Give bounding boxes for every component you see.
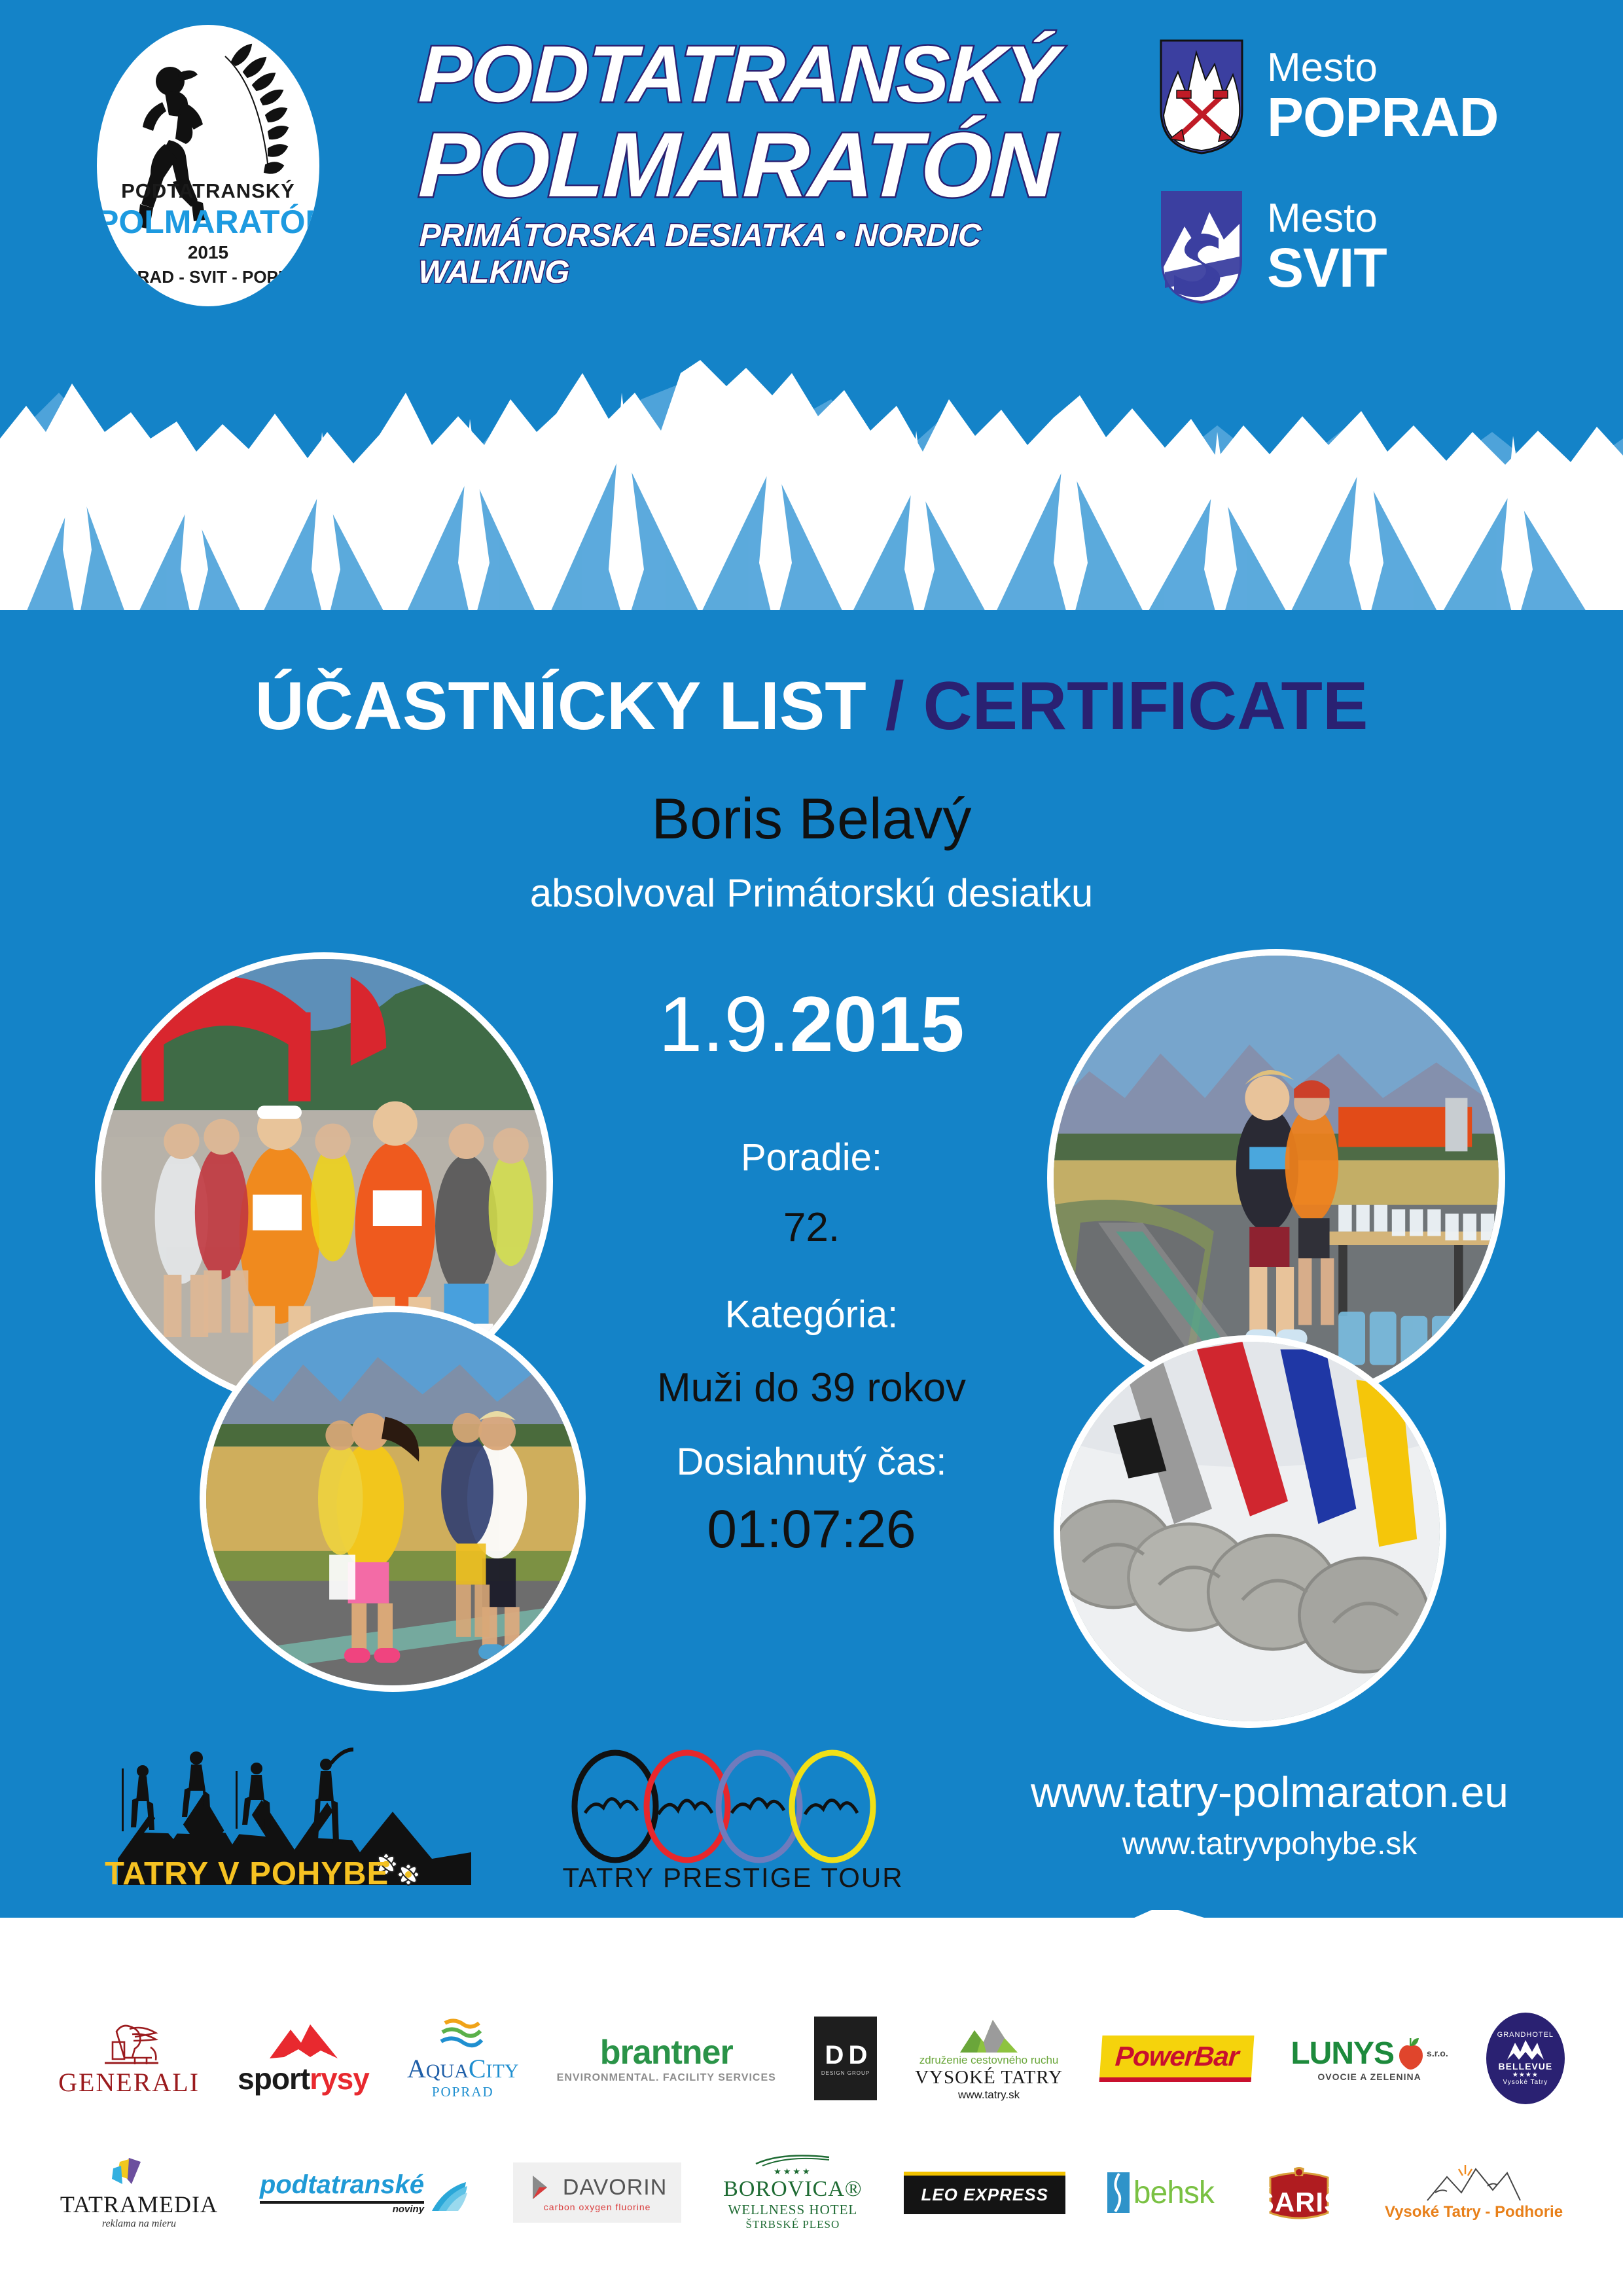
behsk-label: behsk <box>1133 2175 1214 2211</box>
svit-name: SVIT <box>1267 239 1387 296</box>
running-figure-laurel-icon <box>97 25 319 306</box>
sponsor-borovica[interactable]: ★★★★ BOROVICA® WELLNESS HOTEL ŠTRBSKÉ PL… <box>723 2155 862 2231</box>
page-header: PODTATRANSKÝ POLMARATÓN 2015 POPRAD - SV… <box>0 0 1623 367</box>
sponsor-grandhotel-bellevue[interactable]: GRANDHOTEL BELLEVUE ★★★★ Vysoké Tatry <box>1486 2013 1565 2104</box>
podtatranske-pages-icon <box>429 2179 471 2215</box>
seal-line1: PODTATRANSKÝ <box>97 179 319 203</box>
brantner-label: brantner <box>600 2033 733 2072</box>
sponsor-dd-design[interactable]: D D DESIGN GROUP <box>814 2017 877 2100</box>
result-time-label: Dosiahnutý čas: <box>677 1441 947 1483</box>
davorin-label: DAVORIN <box>563 2175 667 2200</box>
borovica-stars: ★★★★ <box>774 2166 812 2177</box>
result-category-label: Kategória: <box>725 1293 898 1336</box>
seal-line2: POLMARATÓN <box>97 203 319 241</box>
sportrysy-label-a: sport <box>238 2062 310 2096</box>
dd-design-label: D D <box>825 2041 866 2070</box>
generali-lion-icon <box>93 2020 165 2067</box>
photo-medals <box>1054 1335 1446 1728</box>
powerbar-label: PowerBar <box>1115 2041 1240 2072</box>
svit-text: Mesto SVIT <box>1267 198 1387 296</box>
svit-prefix: Mesto <box>1267 198 1387 239</box>
sponsor-sportrysy[interactable]: sportrysy <box>238 2020 369 2096</box>
borovica-swoosh-icon <box>753 2155 832 2166</box>
tatramedia-label: TATRAMEDIA <box>60 2191 218 2218</box>
vysoke-tatry-peaks-icon <box>957 2016 1020 2054</box>
borovica-sub1: WELLNESS HOTEL <box>728 2202 858 2218</box>
race-date-year: 2015 <box>790 980 965 1068</box>
powerbar-badge: PowerBar <box>1099 2036 1255 2082</box>
svit-coat-of-arms-icon <box>1158 188 1245 306</box>
sportrysy-mountain-icon <box>264 2020 343 2061</box>
tatry-prestige-tour-rings-icon <box>563 1741 903 1872</box>
aquacity-qua: QUA <box>426 2060 469 2082</box>
grandhotel-bottom: Vysoké Tatry <box>1503 2079 1548 2086</box>
borovica-sub2: ŠTRBSKÉ PLESO <box>745 2218 840 2231</box>
website-secondary[interactable]: www.tatryvpohybe.sk <box>969 1826 1571 1862</box>
aquacity-c: C <box>469 2054 486 2083</box>
lunys-label: LUNYS <box>1291 2036 1394 2072</box>
podtatranske-sub: noviny <box>260 2204 424 2215</box>
poprad-name: POPRAD <box>1267 88 1498 146</box>
certificate-title-sk: ÚČASTNÍCKY LIST <box>255 668 866 744</box>
poprad-coat-of-arms-icon <box>1158 38 1245 156</box>
sponsor-lunys[interactable]: LUNYS s.r.o. OVOCIE A ZELENINA <box>1291 2036 1448 2082</box>
vysoke-tatry-url: www.tatry.sk <box>958 2089 1020 2102</box>
poprad-text: Mesto POPRAD <box>1267 48 1498 146</box>
race-date-daymonth: 1.9. <box>658 980 789 1068</box>
grandhotel-peaks-icon <box>1505 2039 1546 2061</box>
photo-female-runner-art <box>1054 956 1499 1401</box>
dd-design-sub: DESIGN GROUP <box>821 2070 870 2076</box>
behsk-figure-icon <box>1107 2172 1130 2213</box>
sponsor-powerbar[interactable]: PowerBar <box>1101 2036 1253 2082</box>
aquacity-label: AQUACITY <box>407 2053 519 2084</box>
tatramedia-shapes-icon <box>109 2155 168 2191</box>
event-seal-logo: PODTATRANSKÝ POLMARATÓN 2015 POPRAD - SV… <box>97 25 319 306</box>
podtatranske-label: podtatranské <box>260 2170 424 2200</box>
sponsor-vysoke-tatry[interactable]: združenie cestovného ruchu VYSOKÉ TATRY … <box>915 2016 1063 2102</box>
aquacity-sub: POPRAD <box>432 2084 494 2100</box>
dd-design-badge: D D DESIGN GROUP <box>814 2017 877 2100</box>
grandhotel-badge: GRANDHOTEL BELLEVUE ★★★★ Vysoké Tatry <box>1486 2013 1565 2104</box>
participation-statement: absolvoval Primátorskú desiatku <box>0 870 1623 916</box>
sponsor-generali[interactable]: GENERALI <box>58 2020 200 2098</box>
certificate-title-sep: / <box>885 668 904 744</box>
result-category-value: Muži do 39 rokov <box>657 1365 966 1410</box>
leo-express-label: LEO EXPRESS <box>921 2185 1048 2204</box>
event-title-line1: PODTATRANSKÝ <box>418 34 1114 114</box>
sponsor-row-2: TATRAMEDIA reklama na mieru podtatranské… <box>0 2150 1623 2235</box>
aquacity-wave-icon <box>435 2017 491 2053</box>
grandhotel-top: GRANDHOTEL <box>1497 2031 1554 2039</box>
vysoke-tatry-label: VYSOKÉ TATRY <box>915 2067 1063 2089</box>
photo-runners-field <box>200 1306 586 1692</box>
partner-city-svit: Mesto SVIT <box>1158 188 1387 306</box>
tatramedia-sub: reklama na mieru <box>102 2218 176 2230</box>
podhorie-label: Vysoké Tatry - Podhorie <box>1385 2203 1563 2221</box>
davorin-arrow-icon <box>527 2173 556 2202</box>
borovica-label: BOROVICA® <box>723 2177 862 2202</box>
partner-city-poprad: Mesto POPRAD <box>1158 38 1498 156</box>
sponsor-tatramedia[interactable]: TATRAMEDIA reklama na mieru <box>60 2155 218 2230</box>
result-rank-value: 72. <box>783 1205 840 1250</box>
result-rank-label: Poradie: <box>741 1136 882 1179</box>
generali-label: GENERALI <box>58 2067 200 2098</box>
sponsor-davorin[interactable]: DAVORIN carbon oxygen fluorine <box>513 2162 681 2223</box>
sportrysy-label-b: rysy <box>310 2062 369 2096</box>
aquacity-ity: ITY <box>486 2060 519 2082</box>
event-title-line2: POLMARATÓN <box>418 119 1115 211</box>
event-title-block: PODTATRANSKÝ POLMARATÓN PRIMÁTORSKA DESI… <box>419 34 1113 291</box>
podhorie-mountains-icon <box>1425 2164 1523 2203</box>
sponsor-brantner[interactable]: brantner ENVIRONMENTAL. FACILITY SERVICE… <box>557 2033 776 2084</box>
sponsor-row-1: GENERALI sportrysy AQUACITY POPRAD brant… <box>0 2013 1623 2104</box>
davorin-badge: DAVORIN carbon oxygen fluorine <box>513 2162 681 2223</box>
sportrysy-label: sportrysy <box>238 2061 369 2096</box>
event-title-subtitle: PRIMÁTORSKA DESIATKA • NORDIC WALKING <box>418 217 1114 291</box>
saris-label: ŠARIŠ <box>1256 2187 1343 2218</box>
lunys-sro: s.r.o. <box>1427 2048 1448 2058</box>
sponsor-vysoke-tatry-podhorie[interactable]: Vysoké Tatry - Podhorie <box>1385 2164 1563 2221</box>
vysoke-tatry-sub-top: združenie cestovného ruchu <box>919 2054 1059 2067</box>
photo-runners-field-art <box>206 1312 579 1685</box>
poprad-prefix: Mesto <box>1267 48 1498 88</box>
seal-route: POPRAD - SVIT - POPRAD <box>97 267 319 287</box>
lunys-sub: OVOCIE A ZELENINA <box>1317 2072 1421 2082</box>
sponsor-saris[interactable]: ŠARIŠ <box>1256 2167 1343 2218</box>
aquacity-a: A <box>407 2054 426 2083</box>
seal-year: 2015 <box>97 242 319 263</box>
result-time-value: 01:07:26 <box>707 1499 916 1559</box>
certificate-title: ÚČASTNÍCKY LIST / CERTIFICATE <box>0 668 1623 745</box>
davorin-sub: carbon oxygen fluorine <box>544 2202 651 2212</box>
certificate-title-en: CERTIFICATE <box>923 668 1368 744</box>
website-primary[interactable]: www.tatry-polmaraton.eu <box>969 1767 1571 1817</box>
sponsor-podtatranske-noviny[interactable]: podtatranské noviny <box>260 2170 471 2215</box>
mountain-range-banner <box>0 353 1623 628</box>
sponsor-leo-express[interactable]: LEO EXPRESS <box>904 2172 1065 2214</box>
brantner-sub: ENVIRONMENTAL. FACILITY SERVICES <box>557 2072 776 2084</box>
grandhotel-mid: BELLEVUE <box>1499 2061 1553 2072</box>
participant-name: Boris Belavý <box>0 785 1623 852</box>
mountain-divider-bottom <box>0 1878 1623 2009</box>
leo-express-badge: LEO EXPRESS <box>904 2172 1065 2214</box>
photo-medals-art <box>1060 1342 1440 1721</box>
lunys-apple-icon <box>1397 2037 1424 2070</box>
sponsor-aquacity[interactable]: AQUACITY POPRAD <box>407 2017 519 2100</box>
sponsor-behsk[interactable]: behsk <box>1107 2172 1214 2213</box>
grandhotel-stars: ★★★★ <box>1512 2072 1539 2079</box>
